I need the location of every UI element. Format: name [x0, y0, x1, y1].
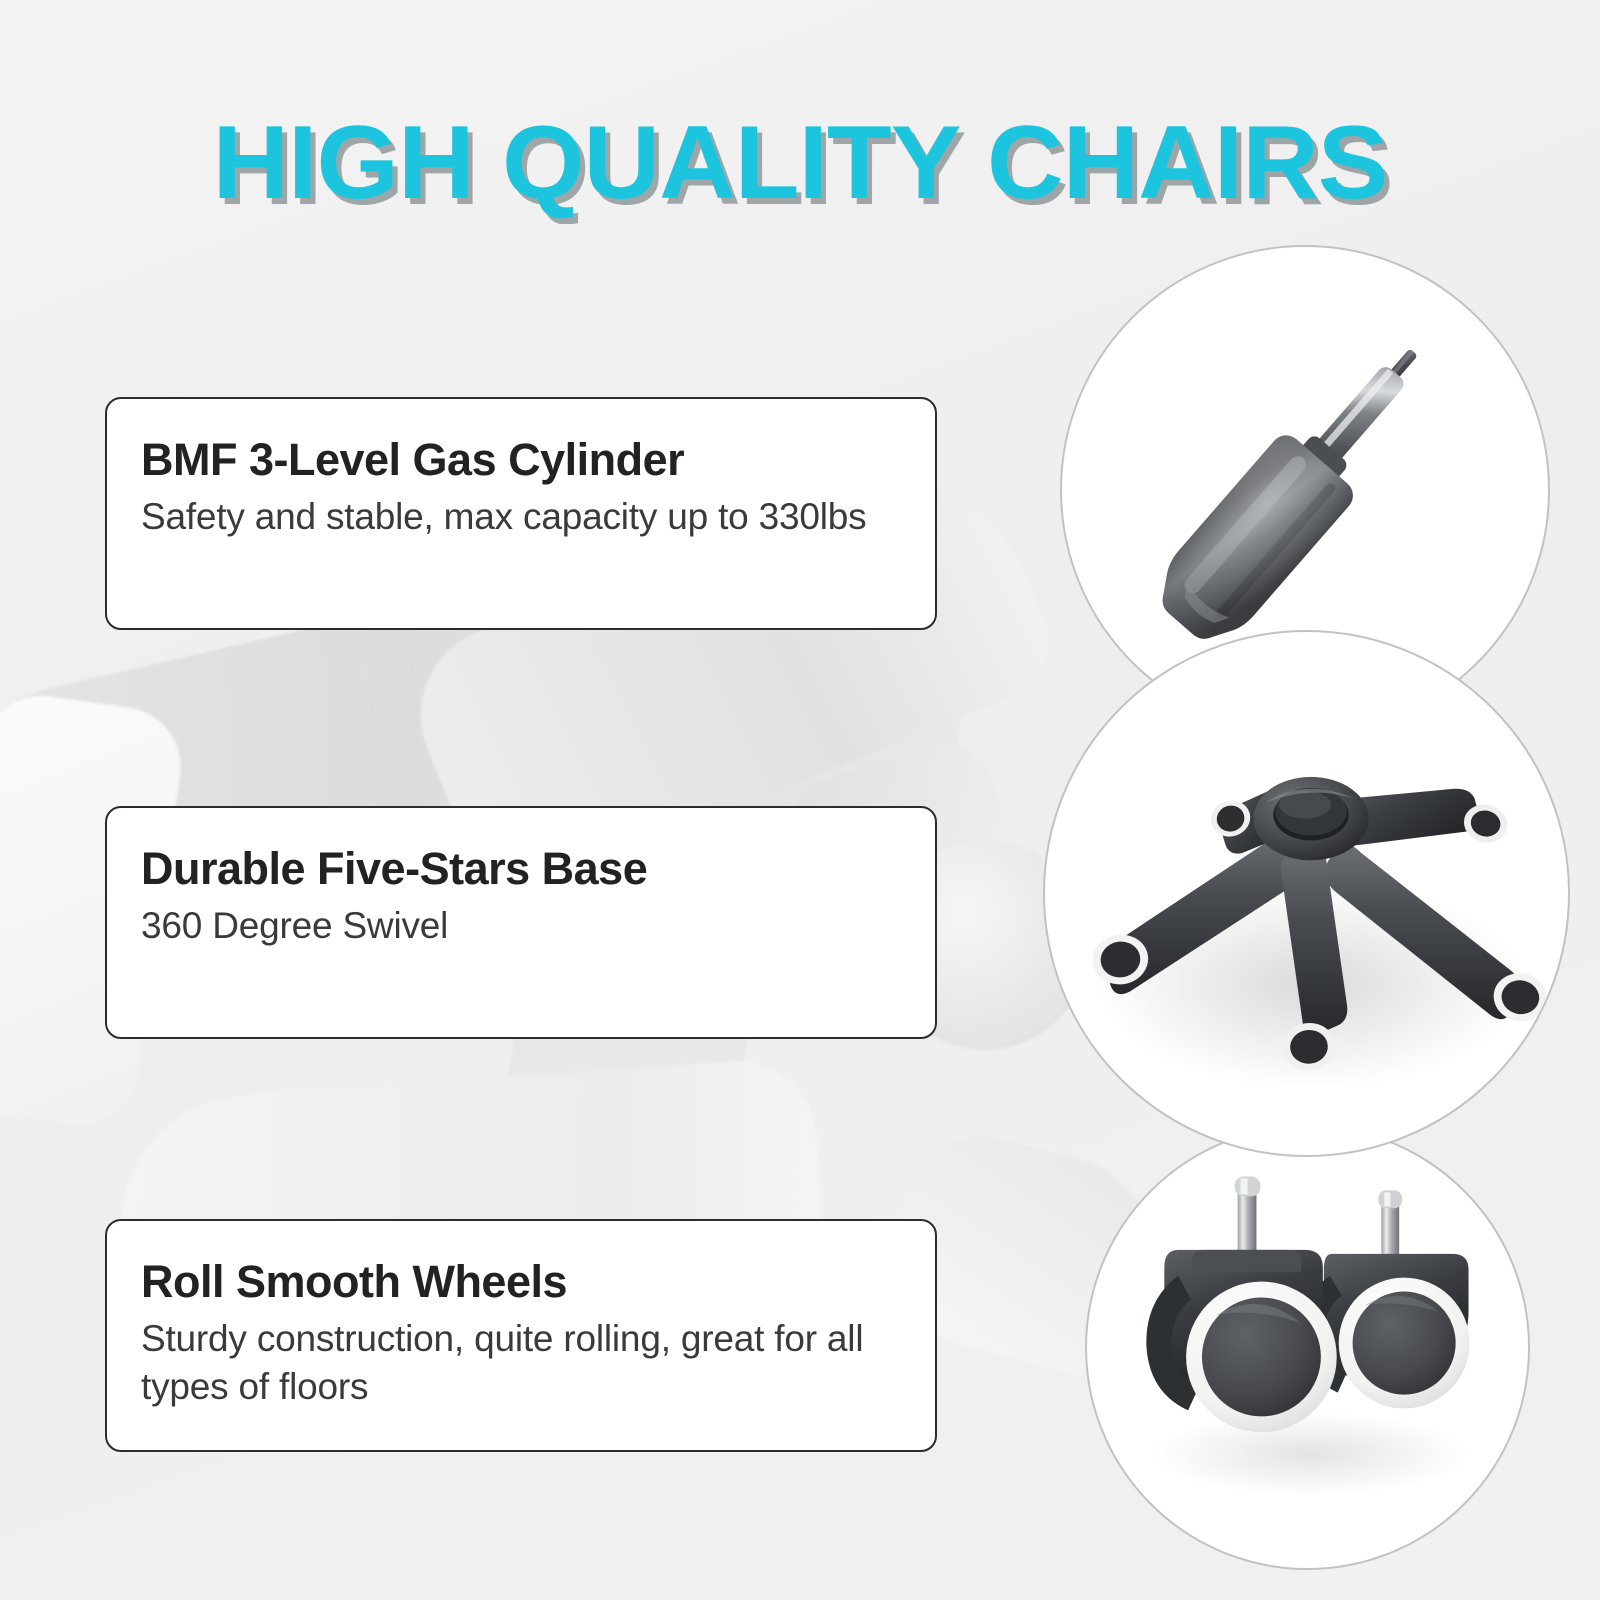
feature-card-roll-smooth-wheels: Roll Smooth Wheels Sturdy construction, … [105, 1219, 937, 1452]
caster-wheels-photo [1085, 1125, 1530, 1570]
feature-title: Durable Five-Stars Base [141, 844, 901, 894]
feature-title: BMF 3-Level Gas Cylinder [141, 435, 901, 485]
feature-card-gas-cylinder: BMF 3-Level Gas Cylinder Safety and stab… [105, 397, 937, 630]
feature-card-five-star-base: Durable Five-Stars Base 360 Degree Swive… [105, 806, 937, 1039]
feature-title: Roll Smooth Wheels [141, 1257, 901, 1307]
infographic-page: HIGH QUALITY CHAIRS BMF 3-Level Gas Cyli… [0, 0, 1600, 1600]
five-star-base-photo [1043, 630, 1570, 1157]
feature-description: 360 Degree Swivel [141, 902, 901, 949]
feature-description: Sturdy construction, quite rolling, grea… [141, 1315, 901, 1410]
feature-description: Safety and stable, max capacity up to 33… [141, 493, 901, 540]
page-title: HIGH QUALITY CHAIRS [0, 108, 1600, 218]
